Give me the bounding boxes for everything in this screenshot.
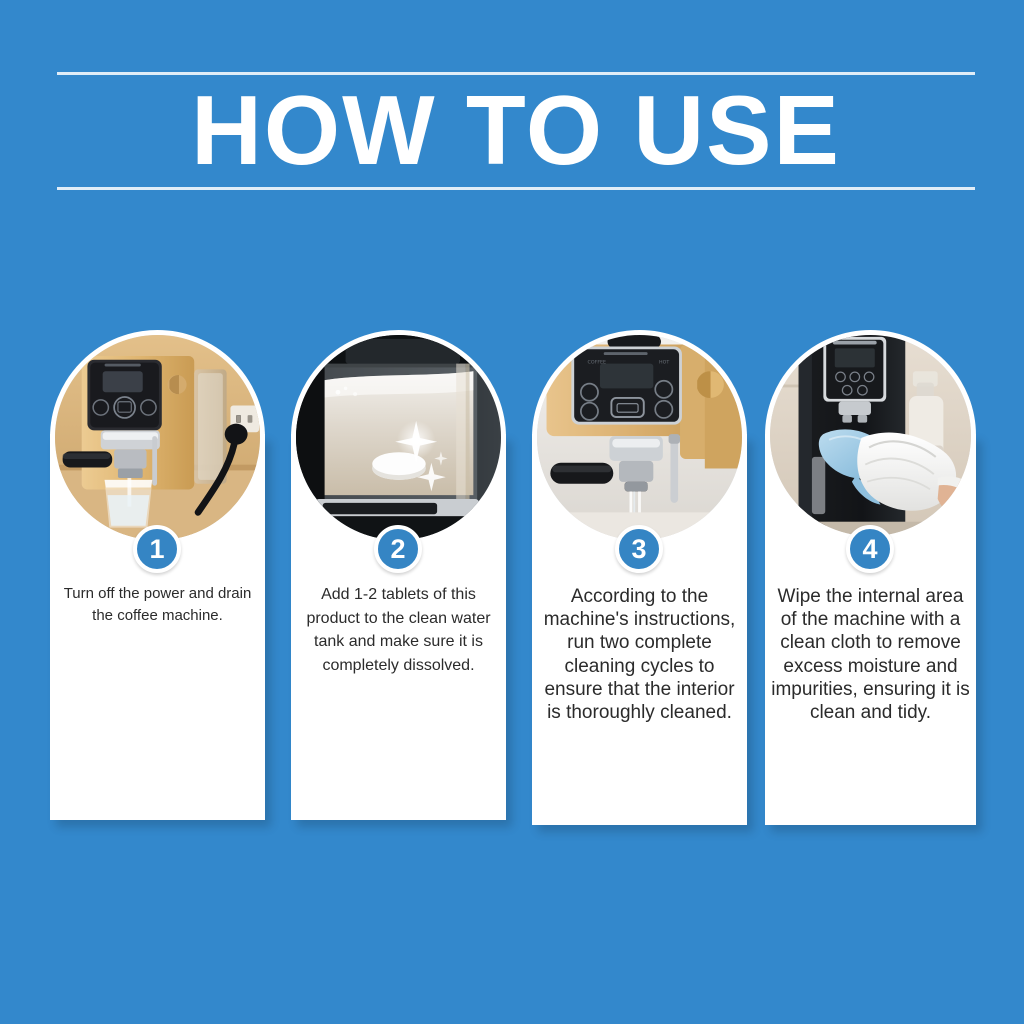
step-badge-2: 2 [374, 525, 422, 573]
step-badge-1: 1 [133, 525, 181, 573]
step-photo-4 [765, 330, 976, 541]
page-title: HOW TO USE [57, 75, 975, 187]
step-text-2: Add 1-2 tablets of this product to the c… [291, 583, 506, 677]
step-badge-3: 3 [615, 525, 663, 573]
step-text-3: According to the machine's instructions,… [532, 585, 747, 724]
step-text-1: Turn off the power and drain the coffee … [50, 583, 265, 627]
step-text-4: Wipe the internal area of the machine wi… [765, 585, 976, 724]
step-badge-4: 4 [846, 525, 894, 573]
svg-text:HOT: HOT [659, 360, 669, 366]
step-photo-2 [291, 330, 506, 545]
step-photo-3: COFFEE HOT [532, 330, 747, 545]
gloved-hand-wiping-machine-with-blue-cloth-icon [770, 335, 971, 536]
gold-espresso-machine-control-panel-running-cycle-icon: COFFEE HOT [537, 335, 742, 540]
gold-espresso-machine-draining-into-glass-icon [55, 335, 260, 540]
steps-row: 1 Turn off the power and drain the coffe… [0, 330, 1024, 850]
title-block: HOW TO USE [57, 72, 975, 190]
svg-text:COFFEE: COFFEE [588, 360, 607, 366]
title-rule-bottom [57, 187, 975, 190]
cleaning-tablet-dissolving-in-water-tank-icon [296, 335, 501, 540]
step-photo-1 [50, 330, 265, 545]
